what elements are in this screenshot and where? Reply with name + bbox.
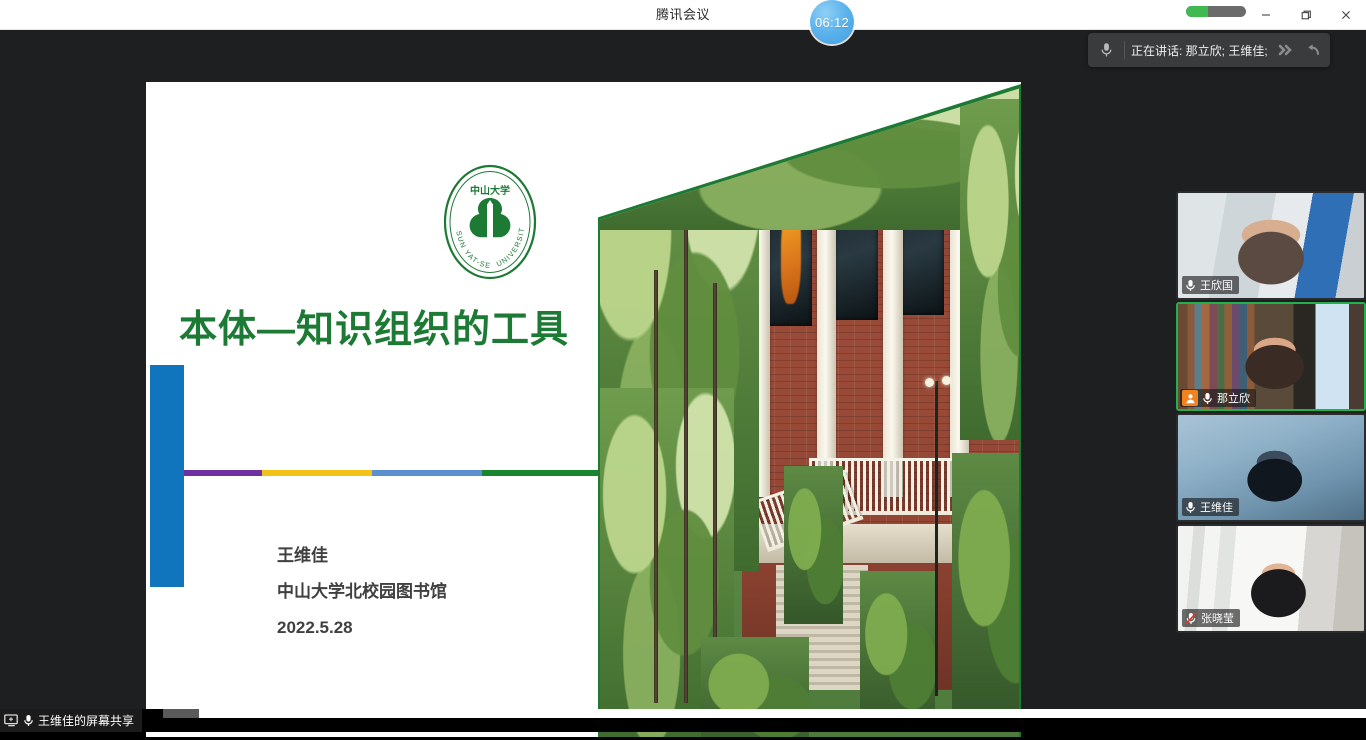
participant-tile-4[interactable]: 张晓莹 [1176,524,1366,633]
toolbar-divider [1124,41,1125,59]
svg-text:中山大学: 中山大学 [470,184,510,197]
microphone-icon [1202,392,1213,405]
restore-arrow-icon[interactable] [1302,37,1324,63]
participant-name-3: 王维佳 [1200,499,1233,515]
taskbar-strip-white [199,709,1366,718]
microphone-muted-icon [1185,612,1197,625]
network-status-indicator [1186,6,1246,17]
meeting-timer-badge[interactable]: 06:12 [810,0,854,44]
participant-name-badge-3: 王维佳 [1182,498,1239,516]
restore-button[interactable] [1286,0,1326,29]
taskbar-item-screen-share[interactable]: 王维佳的屏幕共享 [0,709,142,732]
slide-affiliation: 中山大学北校园图书馆 [277,574,447,610]
participant-name-badge-4: 张晓莹 [1182,609,1240,627]
participant-video-strip: 王欣国 那立欣 [1172,58,1366,740]
chevron-expand-icon[interactable] [1274,37,1296,63]
decorative-color-divider [184,470,602,476]
slide-photo-library-building [598,84,1021,737]
participant-name-4: 张晓莹 [1201,610,1234,626]
active-speaker-toolbar[interactable]: 正在讲话: 那立欣; 王维佳; [1088,33,1330,67]
app-title: 腾讯会议 [0,0,1366,29]
taskbar-strip-grey [163,709,199,718]
close-button[interactable] [1326,0,1366,29]
taskbar: 王维佳的屏幕共享 [0,709,1366,732]
screen-share-icon [4,714,19,727]
taskbar-item-label: 王维佳的屏幕共享 [38,712,134,729]
microphone-icon [1185,279,1196,292]
active-speaker-label: 正在讲话: 那立欣; 王维佳; [1131,42,1268,59]
meeting-timer-value: 06:12 [815,15,849,30]
participant-name-1: 王欣国 [1200,277,1233,293]
participant-name-badge-2: 那立欣 [1180,389,1256,407]
participant-name-badge-1: 王欣国 [1182,276,1239,294]
shared-screen-slide[interactable]: 中山大学 SUN YAT-SEN UNIVERSITY 本体—知识组织的工具 [146,82,1021,737]
slide-author-block: 王维佳 中山大学北校园图书馆 2022.5.28 [277,538,447,646]
minimize-button[interactable] [1246,0,1286,29]
meeting-stage: 中山大学 SUN YAT-SEN UNIVERSITY 本体—知识组织的工具 [0,29,1366,711]
slide-author-name: 王维佳 [277,538,447,574]
participant-tile-2[interactable]: 那立欣 [1176,302,1366,411]
divider-segment-yellow [262,470,372,476]
microphone-icon [23,714,34,727]
window-controls [1246,0,1366,29]
slide-date: 2022.5.28 [277,610,447,646]
divider-segment-blue [372,470,482,476]
window-titlebar: 腾讯会议 [0,0,1366,30]
participant-name-2: 那立欣 [1217,390,1250,406]
decorative-vertical-bar [150,365,184,587]
sun-yat-sen-university-logo-icon: 中山大学 SUN YAT-SEN UNIVERSITY [442,162,538,282]
microphone-icon[interactable] [1094,38,1118,62]
microphone-icon [1185,501,1196,514]
divider-segment-purple [184,470,262,476]
participant-tile-1[interactable]: 王欣国 [1176,191,1366,300]
divider-segment-green [482,470,602,476]
participant-tile-3[interactable]: 王维佳 [1176,413,1366,522]
host-avatar-icon [1182,390,1198,406]
